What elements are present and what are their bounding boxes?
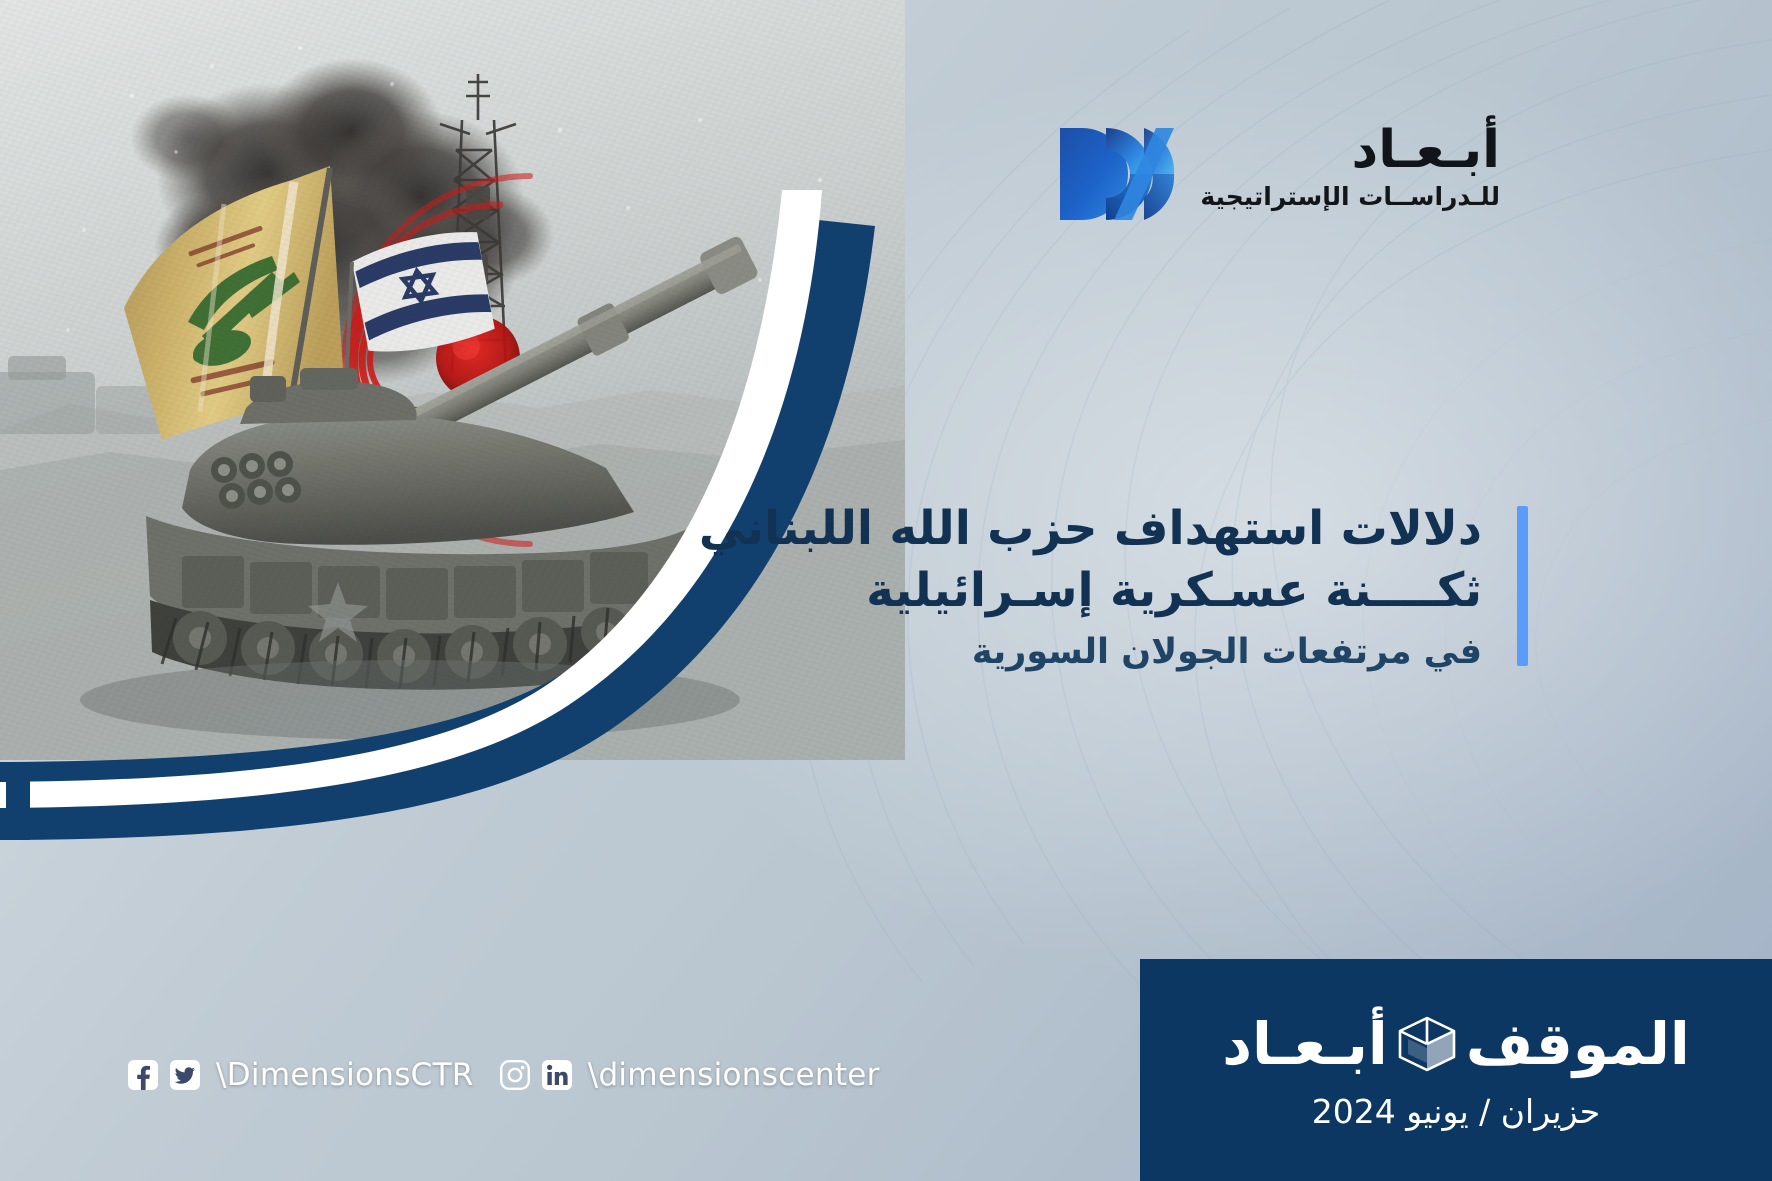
brand-wordmark: أبـعـاد للـدراســات الإستراتيجية (1200, 118, 1500, 211)
publication-date: حزيران / يونيو 2024 (1312, 1092, 1600, 1131)
linkedin-icon[interactable] (542, 1060, 572, 1090)
headline-line-1: دلالات استهداف حزب الله اللبناني (722, 498, 1482, 560)
poster-canvas: أبـعـاد للـدراســات الإستراتيجية دلالات … (0, 0, 1772, 1181)
twitter-icon[interactable] (170, 1060, 200, 1090)
brand-name: أبـعـاد (1200, 124, 1500, 176)
facebook-icon[interactable] (128, 1060, 158, 1090)
series-badge-word-left: الموقف (1466, 1010, 1690, 1078)
social-footer: \DimensionsCTR \dimensionscenter (128, 1057, 894, 1093)
series-badge-title: أبـعـاد الموقف (1222, 1010, 1690, 1078)
series-badge: أبـعـاد الموقف حزيران / يونيو 2024 (1140, 959, 1772, 1181)
cube-logo-icon (1394, 1013, 1460, 1075)
brand-logo: أبـعـاد للـدراســات الإستراتيجية (1052, 118, 1500, 226)
headline-accent-bar (1517, 506, 1528, 666)
headline-line-2: ثكــــنة عسـكرية إسـرائيلية (722, 560, 1482, 622)
instagram-icon[interactable] (500, 1060, 530, 1090)
headline-subtitle: في مرتفعات الجولان السورية (722, 626, 1482, 679)
social-handle-2: \dimensionscenter (588, 1057, 880, 1093)
social-handle-1: \DimensionsCTR (216, 1057, 474, 1093)
headline-block: دلالات استهداف حزب الله اللبناني ثكــــن… (722, 498, 1482, 679)
series-badge-word-right: أبـعـاد (1222, 1010, 1388, 1078)
dss-monogram-icon (1052, 122, 1182, 226)
brand-tagline: للـدراســات الإستراتيجية (1200, 182, 1500, 211)
